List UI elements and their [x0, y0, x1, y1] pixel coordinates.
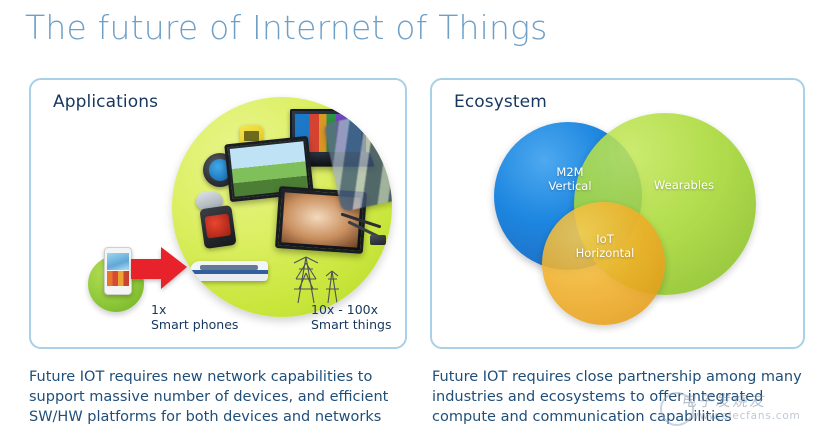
ecosystem-footer-text: Future IOT requires close partnership am… — [432, 367, 822, 427]
venn-label-wearables: Wearables — [638, 178, 730, 192]
train-icon — [190, 255, 272, 289]
smart-things-multiplier: 10x - 100x — [311, 302, 391, 317]
venn-label-m2m: M2M Vertical — [530, 165, 610, 193]
venn-label-iot: IoT Horizontal — [566, 232, 644, 260]
applications-panel-title: Applications — [53, 92, 158, 112]
smart-phones-multiplier: 1x — [151, 302, 238, 317]
power-pylon-icon — [284, 249, 346, 305]
right-arrow-icon — [131, 245, 189, 293]
smart-things-caption: 10x - 100x Smart things — [311, 302, 391, 332]
smart-phones-caption: 1x Smart phones — [151, 302, 238, 332]
smartphone-icon — [104, 247, 132, 295]
applications-footer-text: Future IOT requires new network capabili… — [29, 367, 414, 427]
smart-things-circle — [172, 97, 392, 317]
slide-canvas: The future of Internet of Things Applica… — [0, 0, 826, 437]
smart-phones-label: Smart phones — [151, 317, 238, 332]
smart-things-label: Smart things — [311, 317, 391, 332]
page-title: The future of Internet of Things — [25, 8, 548, 47]
applications-panel: Applications — [29, 78, 407, 349]
venn-circle-iot — [542, 202, 665, 325]
ecosystem-panel: Ecosystem M2M Vertical Wearables IoT Hor… — [430, 78, 805, 349]
venn-diagram: M2M Vertical Wearables IoT Horizontal — [432, 80, 807, 351]
smart-glasses-icon — [340, 215, 392, 249]
smartwatch-icon — [199, 205, 236, 249]
